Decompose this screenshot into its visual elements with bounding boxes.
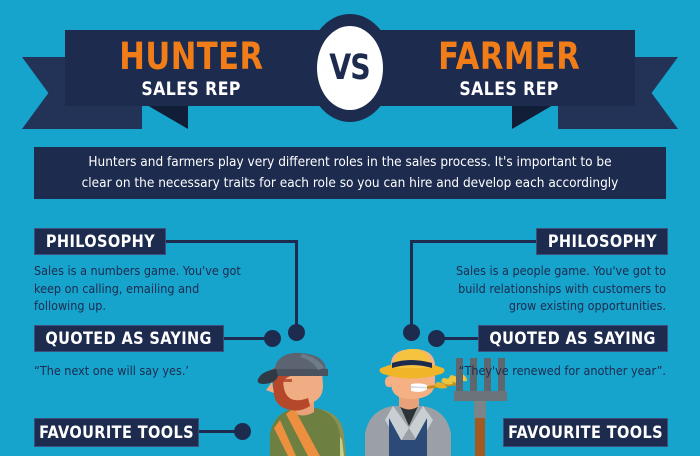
hunter-character-illustration (250, 352, 365, 456)
left-tools-label[interactable]: FAVOURITE TOOLS (34, 418, 199, 447)
connector-dot-right-quoted (428, 330, 445, 347)
hunter-subtitle: SALES REP (141, 80, 241, 99)
right-quoted-text: “They've renewed for another year”. (450, 362, 666, 380)
left-philosophy-text: Sales is a numbers game. You've got keep… (34, 262, 249, 315)
versus-label: VS (330, 48, 371, 88)
right-philosophy-label-text: PHILOSOPHY (547, 232, 656, 252)
connector-left-philosophy-horizontal (163, 240, 298, 243)
infographic-canvas: HUNTER SALES REP FARMER SALES REP VS Hun… (0, 0, 700, 456)
intro-line-2: clear on the necessary traits for each r… (82, 175, 619, 191)
right-tools-label[interactable]: FAVOURITE TOOLS (503, 418, 668, 447)
left-quoted-text: “The next one will say yes.’ (34, 362, 249, 380)
left-tools-label-text: FAVOURITE TOOLS (39, 423, 194, 443)
right-quoted-label-text: QUOTED AS SAYING (490, 329, 656, 349)
connector-dot-left-tools (234, 423, 251, 440)
left-philosophy-label-text: PHILOSOPHY (45, 232, 154, 252)
connector-right-philosophy-horizontal (410, 240, 545, 243)
header-ribbon: HUNTER SALES REP FARMER SALES REP VS (0, 0, 700, 132)
farmer-title: FARMER (438, 38, 580, 75)
hunter-header-group: HUNTER SALES REP (65, 30, 317, 106)
left-philosophy-label[interactable]: PHILOSOPHY (34, 228, 166, 255)
intro-text: Hunters and farmers play very different … (66, 152, 635, 194)
connector-left-philosophy-vertical (295, 240, 298, 332)
farmer-subtitle: SALES REP (459, 80, 559, 99)
left-quoted-label[interactable]: QUOTED AS SAYING (34, 325, 224, 352)
connector-dot-left-philosophy (288, 324, 305, 341)
connector-right-philosophy-vertical (410, 240, 413, 332)
left-quoted-label-text: QUOTED AS SAYING (46, 329, 212, 349)
right-philosophy-label[interactable]: PHILOSOPHY (536, 228, 668, 255)
versus-badge-inner: VS (317, 26, 383, 110)
versus-badge: VS (307, 14, 393, 122)
right-tools-label-text: FAVOURITE TOOLS (508, 423, 663, 443)
intro-line-1: Hunters and farmers play very different … (88, 154, 611, 170)
farmer-header-group: FARMER SALES REP (383, 30, 635, 106)
intro-banner: Hunters and farmers play very different … (34, 147, 666, 199)
connector-dot-left-quoted (264, 330, 281, 347)
connector-dot-right-philosophy (403, 324, 420, 341)
hunter-title: HUNTER (119, 38, 263, 75)
right-quoted-label[interactable]: QUOTED AS SAYING (478, 325, 668, 352)
right-philosophy-text: Sales is a people game. You've got to bu… (450, 262, 666, 315)
